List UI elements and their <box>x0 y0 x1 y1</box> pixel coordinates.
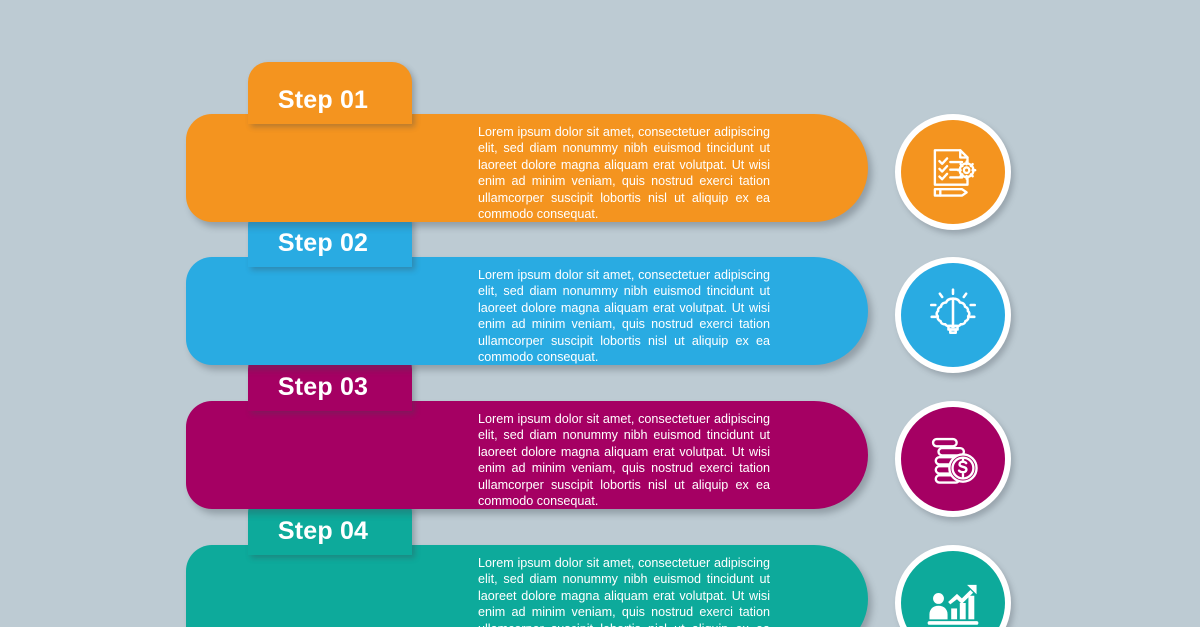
step-icon-disc-1 <box>901 120 1005 224</box>
step-description-3: Lorem ipsum dolor sit amet, consectetuer… <box>478 411 770 509</box>
person-bar-chart-growth-icon <box>924 574 982 627</box>
step-description-2: Lorem ipsum dolor sit amet, consectetuer… <box>478 267 770 365</box>
step-group-3: Lorem ipsum dolor sit amet, consectetuer… <box>0 349 1200 509</box>
brain-lightbulb-icon <box>924 286 982 344</box>
step-icon-badge-1[interactable] <box>895 114 1011 230</box>
step-group-2: Lorem ipsum dolor sit amet, consectetuer… <box>0 205 1200 365</box>
step-icon-badge-4[interactable] <box>895 545 1011 627</box>
step-group-1: Lorem ipsum dolor sit amet, consectetuer… <box>0 62 1200 222</box>
step-bar-4[interactable]: Lorem ipsum dolor sit amet, consectetuer… <box>186 545 868 627</box>
step-bar-2[interactable]: Lorem ipsum dolor sit amet, consectetuer… <box>186 257 868 365</box>
checklist-gear-pencil-icon <box>924 143 982 201</box>
step-infographic: Lorem ipsum dolor sit amet, consectetuer… <box>0 0 1200 627</box>
step-icon-disc-3 <box>901 407 1005 511</box>
step-description-4: Lorem ipsum dolor sit amet, consectetuer… <box>478 555 770 627</box>
step-icon-disc-2 <box>901 263 1005 367</box>
step-icon-badge-3[interactable] <box>895 401 1011 517</box>
step-tab-1[interactable]: Step 01 <box>248 62 412 124</box>
step-tab-label-4: Step 04 <box>248 517 398 546</box>
coins-dollar-icon <box>924 430 982 488</box>
step-description-1: Lorem ipsum dolor sit amet, consectetuer… <box>478 124 770 222</box>
step-tab-label-3: Step 03 <box>248 373 398 402</box>
step-icon-disc-4 <box>901 551 1005 627</box>
step-group-4: Lorem ipsum dolor sit amet, consectetuer… <box>0 493 1200 627</box>
step-tab-label-2: Step 02 <box>248 229 398 258</box>
step-bar-3[interactable]: Lorem ipsum dolor sit amet, consectetuer… <box>186 401 868 509</box>
step-tab-label-1: Step 01 <box>248 86 398 115</box>
step-icon-badge-2[interactable] <box>895 257 1011 373</box>
step-bar-1[interactable]: Lorem ipsum dolor sit amet, consectetuer… <box>186 114 868 222</box>
